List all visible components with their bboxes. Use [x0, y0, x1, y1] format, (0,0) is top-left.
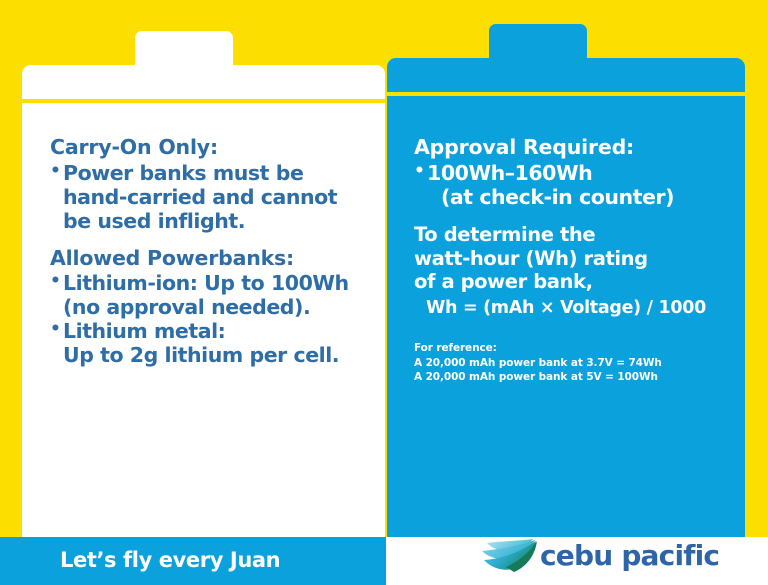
bullet-approval-range: • 100Wh–160Wh (at check-in counter)	[414, 161, 738, 209]
instruction-line: watt-hour (Wh) rating	[414, 247, 648, 270]
reference-example-1: A 20,000 mAh power bank at 3.7V = 74Wh	[414, 356, 738, 370]
bullet-line: (no approval needed).	[63, 295, 310, 319]
bullet-line: Power banks must be	[63, 161, 303, 185]
bullet-lithium-ion: • Lithium-ion: Up to 100Wh (no approval …	[50, 271, 386, 319]
reference-examples: For reference: A 20,000 mAh power bank a…	[414, 341, 738, 384]
cebu-pacific-logo: cebu pacific	[478, 533, 688, 577]
watt-hour-formula: Wh = (mAh × Voltage) / 1000	[426, 298, 738, 319]
bullet-text: Lithium-ion: Up to 100Wh (no approval ne…	[63, 271, 386, 319]
bullet-text: 100Wh–160Wh (at check-in counter)	[427, 161, 738, 209]
bullet-text: Power banks must be hand-carried and can…	[63, 161, 386, 233]
instruction-line: To determine the	[414, 223, 595, 246]
approval-required-heading: Approval Required:	[414, 136, 738, 160]
spacer	[414, 209, 738, 223]
reference-example-2: A 20,000 mAh power bank at 5V = 100Wh	[414, 370, 738, 384]
bullet-line: be used inflight.	[63, 209, 245, 233]
cebu-pacific-bird-icon	[478, 536, 544, 574]
bullet-line: 100Wh–160Wh	[427, 161, 592, 185]
bullet-line: (at check-in counter)	[441, 185, 674, 209]
allowed-powerbanks-heading: Allowed Powerbanks:	[50, 247, 386, 271]
bullet-dot-icon: •	[50, 161, 63, 182]
bullet-power-banks-carry-on: • Power banks must be hand-carried and c…	[50, 161, 386, 233]
bullet-line: Lithium metal:	[63, 319, 225, 343]
footer-tagline: Let’s fly every Juan	[60, 548, 280, 572]
bullet-dot-icon: •	[50, 271, 63, 292]
spacer	[50, 233, 386, 247]
bullet-line: Up to 2g lithium per cell.	[63, 343, 339, 367]
bullet-text: Lithium metal: Up to 2g lithium per cell…	[63, 319, 386, 367]
bullet-dot-icon: •	[50, 319, 63, 340]
instruction-line: of a power bank,	[414, 270, 593, 293]
battery-terminal-left	[135, 31, 233, 65]
left-panel-content: Carry-On Only: • Power banks must be han…	[50, 136, 386, 367]
carry-on-only-heading: Carry-On Only:	[50, 136, 386, 160]
bullet-line: hand-carried and cannot	[63, 185, 337, 209]
battery-terminal-right	[489, 24, 587, 58]
bullet-line: Lithium-ion: Up to 100Wh	[63, 271, 349, 295]
battery-cap-right	[387, 58, 745, 92]
watt-hour-instruction: To determine the watt-hour (Wh) rating o…	[414, 223, 738, 294]
bullet-lithium-metal: • Lithium metal: Up to 2g lithium per ce…	[50, 319, 386, 367]
poster-graphic: Carry-On Only: • Power banks must be han…	[0, 0, 768, 585]
battery-cap-left	[22, 65, 385, 99]
right-panel-content: Approval Required: • 100Wh–160Wh (at che…	[414, 136, 738, 385]
bullet-dot-icon: •	[414, 161, 427, 182]
cebu-pacific-wordmark: cebu pacific	[540, 539, 719, 572]
reference-label: For reference:	[414, 341, 738, 355]
